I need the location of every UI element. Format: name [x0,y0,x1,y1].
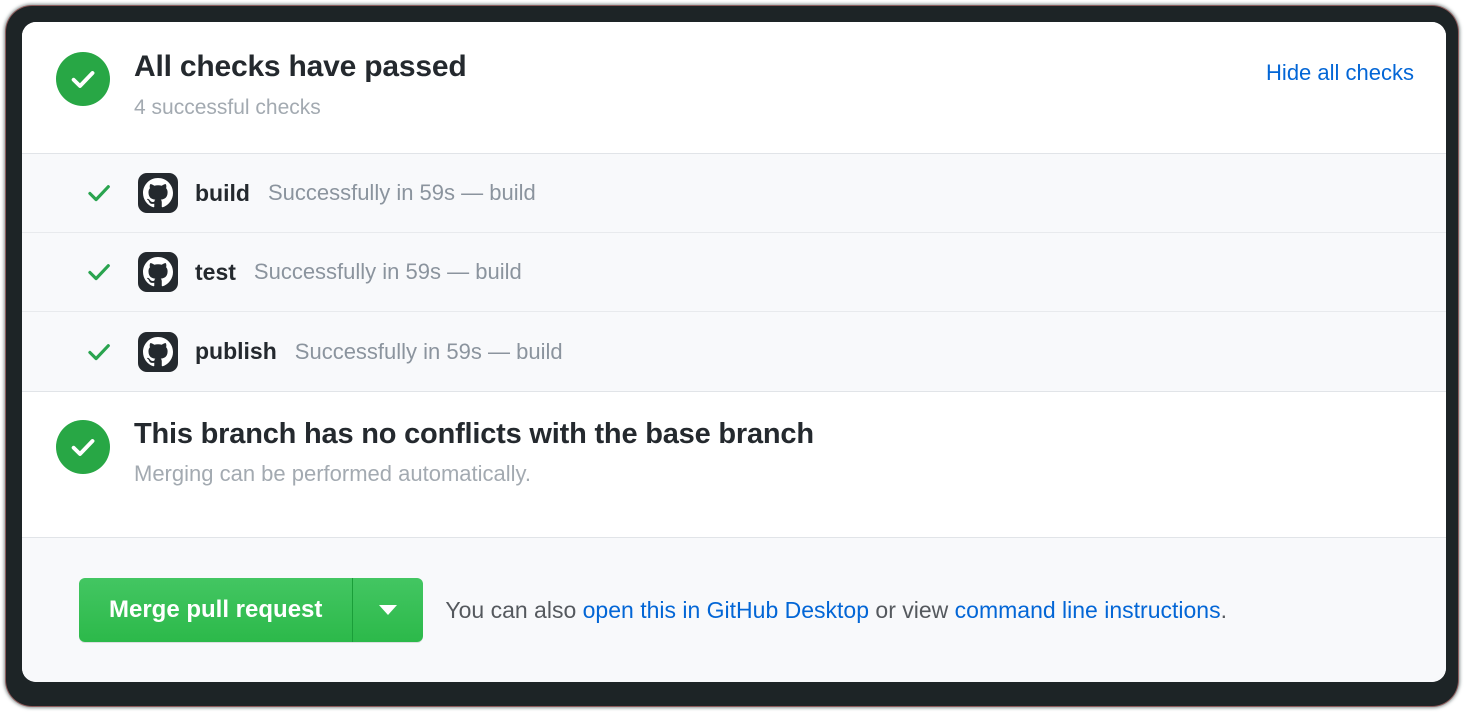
github-octocat-icon [138,332,178,372]
open-in-github-desktop-link[interactable]: open this in GitHub Desktop [583,597,869,623]
github-octocat-icon [138,252,178,292]
merge-pull-request-button[interactable]: Merge pull request [79,578,352,642]
conflicts-title: This branch has no conflicts with the ba… [134,418,814,451]
check-icon [86,259,120,285]
merge-conflicts-status: This branch has no conflicts with the ba… [22,392,1446,538]
check-name: build [195,180,250,207]
check-name: publish [195,338,277,365]
check-description: Successfully in 59s — build [254,259,522,285]
checks-title: All checks have passed [134,50,1266,85]
merge-help-middle: or view [869,597,955,623]
table-row[interactable]: test Successfully in 59s — build [22,233,1446,312]
check-description: Successfully in 59s — build [295,339,563,365]
conflicts-subtitle: Merging can be performed automatically. [134,461,814,487]
checks-header: All checks have passed 4 successful chec… [22,22,1446,154]
checks-subtitle: 4 successful checks [134,95,1266,120]
command-line-instructions-link[interactable]: command line instructions [955,597,1221,623]
hide-all-checks-link[interactable]: Hide all checks [1266,60,1414,86]
pull-request-merge-box: All checks have passed 4 successful chec… [22,22,1446,682]
merge-help-suffix: . [1221,597,1227,623]
table-row[interactable]: build Successfully in 59s — build [22,154,1446,233]
check-icon [86,180,120,206]
github-octocat-icon [138,173,178,213]
check-circle-icon [56,420,110,474]
merge-help-prefix: You can also [445,597,582,623]
checks-list: build Successfully in 59s — build test S… [22,154,1446,392]
check-circle-icon [56,52,110,106]
merge-options-dropdown-button[interactable] [352,578,423,642]
check-description: Successfully in 59s — build [268,180,536,206]
check-icon [86,339,120,365]
checks-header-text: All checks have passed 4 successful chec… [134,50,1266,120]
check-name: test [195,259,236,286]
merge-help-text: You can also open this in GitHub Desktop… [445,597,1227,624]
merge-button-group: Merge pull request [79,578,423,642]
conflicts-text: This branch has no conflicts with the ba… [134,418,814,488]
chevron-down-icon [379,605,397,615]
merge-footer: Merge pull request You can also open thi… [22,538,1446,682]
table-row[interactable]: publish Successfully in 59s — build [22,312,1446,391]
